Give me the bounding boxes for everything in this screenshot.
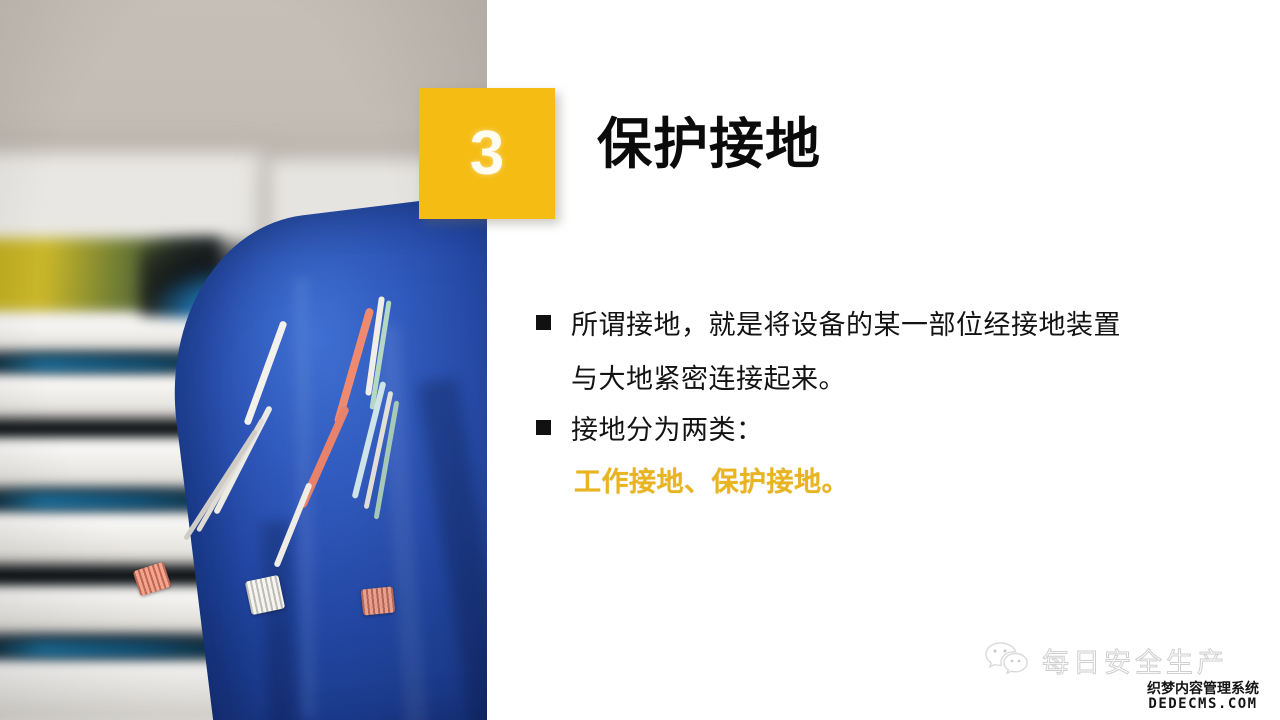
connector-ribs: [245, 575, 285, 615]
cable-connector-white: [245, 575, 285, 615]
section-number: 3: [470, 123, 504, 185]
slide-root: 3 保护接地 所谓接地，就是将设备的某一部位经接地装置 与大地紧密连接起来。 接…: [0, 0, 1280, 720]
dedecms-watermark: 织梦内容管理系统 DEDECMS.COM: [1147, 682, 1259, 711]
bullet-text-line: 所谓接地，就是将设备的某一部位经接地装置: [571, 300, 1121, 351]
page-title: 保护接地: [597, 114, 821, 175]
highlighted-text: 工作接地、保护接地。: [574, 460, 1216, 506]
cable-connector-salmon: [361, 586, 396, 615]
dedecms-watermark-cn: 织梦内容管理系统: [1147, 682, 1259, 697]
square-bullet-icon: [536, 420, 551, 435]
wechat-watermark: 每日安全生产: [984, 640, 1228, 681]
bullet-text-continuation: 与大地紧密连接起来。: [571, 354, 1216, 405]
body-content: 所谓接地，就是将设备的某一部位经接地装置 与大地紧密连接起来。 接地分为两类： …: [536, 300, 1216, 506]
square-bullet-icon: [536, 315, 551, 330]
connector-ribs: [361, 586, 396, 615]
wechat-account-name: 每日安全生产: [1042, 641, 1228, 680]
fabric-shadow: [417, 377, 487, 720]
hero-photo: [0, 0, 487, 720]
section-number-badge: 3: [419, 88, 555, 219]
bullet-text-line: 接地分为两类：: [571, 405, 764, 456]
list-item: 接地分为两类：: [536, 405, 1216, 456]
dedecms-watermark-en: DEDECMS.COM: [1147, 697, 1259, 712]
wechat-icon: [984, 640, 1030, 681]
list-item: 所谓接地，就是将设备的某一部位经接地装置: [536, 300, 1216, 351]
